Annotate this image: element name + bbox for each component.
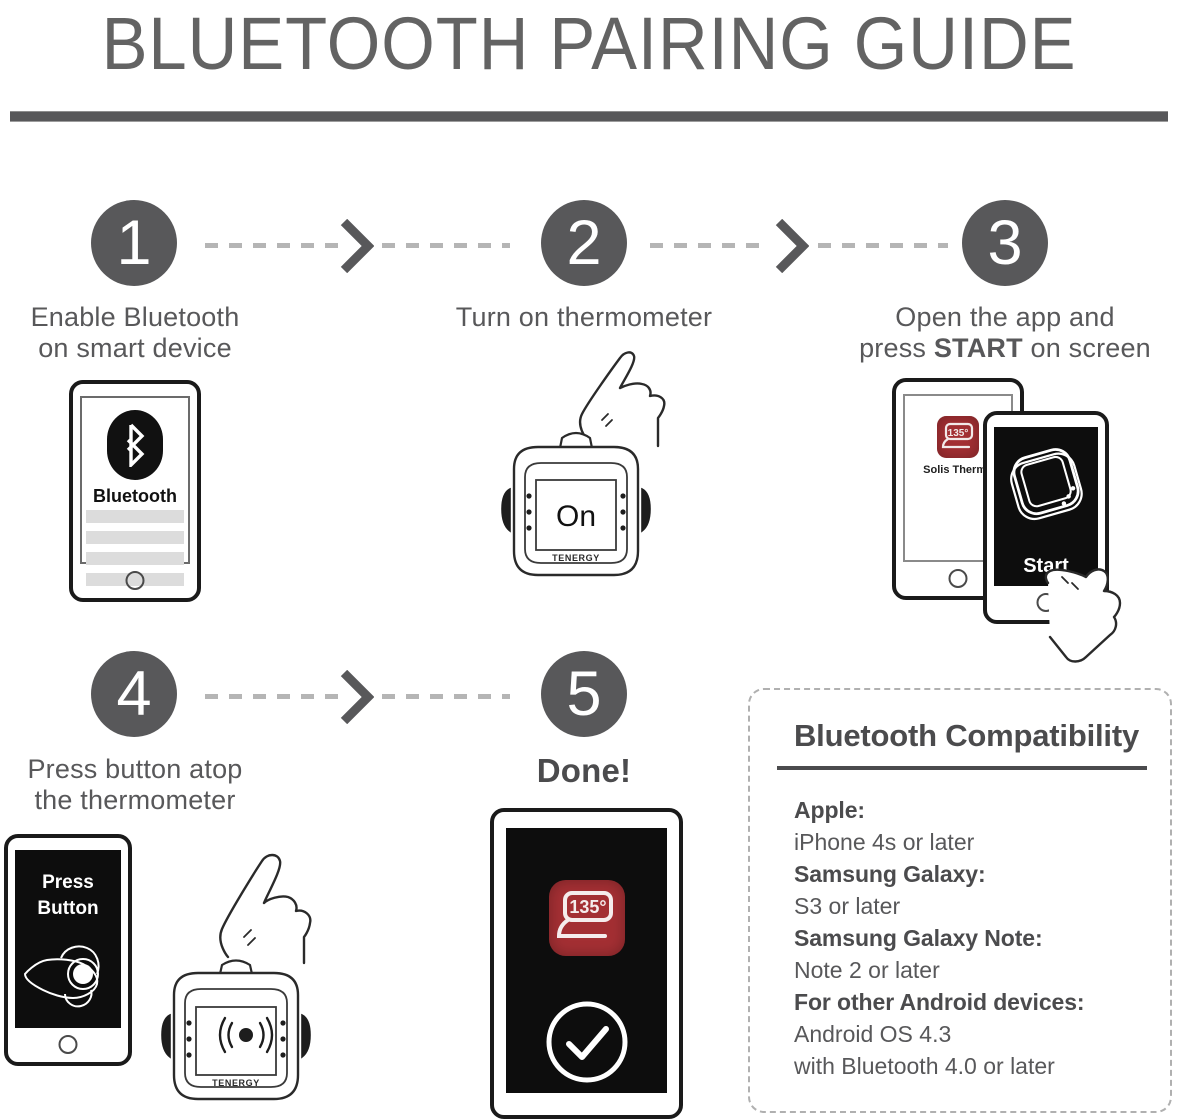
compat-term-other-android: For other Android devices: bbox=[794, 986, 1154, 1018]
compat-term-apple: Apple: bbox=[794, 794, 1154, 826]
bluetooth-icon bbox=[107, 410, 163, 480]
compat-term-galaxy: Samsung Galaxy: bbox=[794, 858, 1154, 890]
app-icon-glyph: 135° bbox=[937, 416, 979, 458]
step-caption-2-line1: Turn on thermometer bbox=[414, 302, 754, 333]
step4-smartphone: Press Button bbox=[4, 834, 132, 1066]
step4-thermometer: TENERGY bbox=[140, 955, 332, 1119]
title-divider bbox=[10, 111, 1168, 122]
step1-phone-screen: Bluetooth ON bbox=[80, 396, 190, 564]
step-caption-3-post: on screen bbox=[1023, 333, 1151, 363]
home-button-icon[interactable] bbox=[126, 571, 145, 590]
step-number-2: 2 bbox=[541, 200, 627, 286]
home-button-icon[interactable] bbox=[59, 1035, 78, 1054]
connector-chevron-2-3 bbox=[775, 219, 809, 273]
thermometer-brand: TENERGY bbox=[212, 1078, 260, 1088]
step-number-5: 5 bbox=[541, 651, 627, 737]
step-number-1: 1 bbox=[91, 200, 177, 286]
press-label: Press bbox=[15, 872, 121, 894]
compat-value-galaxy-note: Note 2 or later bbox=[794, 954, 1154, 986]
step-caption-1-line1: Enable Bluetooth bbox=[0, 302, 270, 333]
hand-pressing-illustration bbox=[21, 932, 123, 1010]
placeholder-row bbox=[86, 531, 184, 544]
step5-phone-screen: 135° bbox=[506, 828, 667, 1093]
step-caption-3-line1: Open the app and bbox=[855, 302, 1155, 333]
step-caption-4: Press button atop the thermometer bbox=[0, 754, 270, 816]
step4-phone-screen: Press Button bbox=[15, 850, 121, 1028]
thermometer-outline-illustration bbox=[998, 433, 1102, 545]
connector-dash-4-5b bbox=[382, 694, 510, 699]
step-caption-3-bold: START bbox=[934, 333, 1023, 363]
connector-dash-1-2b bbox=[382, 243, 510, 248]
thermometer-display-value: On bbox=[556, 500, 596, 533]
step2-thermometer: On TENERGY bbox=[480, 425, 672, 600]
app-icon-reading: 135° bbox=[948, 428, 969, 439]
bluetooth-compatibility-panel: Bluetooth Compatibility Apple: iPhone 4s… bbox=[748, 688, 1172, 1113]
step-caption-1-line2: on smart device bbox=[0, 333, 270, 364]
connector-chevron-4-5 bbox=[340, 670, 374, 724]
app-icon-solis-thermo[interactable]: 135° bbox=[937, 416, 979, 458]
compat-divider bbox=[777, 766, 1147, 770]
button-label: Button bbox=[15, 898, 121, 920]
step-caption-4-line2: the thermometer bbox=[0, 785, 270, 816]
step-caption-3: Open the app and press START on screen bbox=[855, 302, 1155, 364]
placeholder-row bbox=[86, 510, 184, 523]
compat-value-other-android-line2: with Bluetooth 4.0 or later bbox=[794, 1050, 1154, 1082]
step1-smartphone: Bluetooth ON bbox=[69, 380, 201, 602]
step-caption-3-pre: press bbox=[859, 333, 934, 363]
hand-pressing-icon bbox=[204, 845, 324, 965]
compat-value-apple: iPhone 4s or later bbox=[794, 826, 1154, 858]
check-circle-icon bbox=[543, 998, 631, 1086]
compat-value-galaxy: S3 or later bbox=[794, 890, 1154, 922]
app-icon-reading: 135° bbox=[569, 897, 606, 917]
connector-dash-1-2 bbox=[205, 243, 342, 248]
compat-title: Bluetooth Compatibility bbox=[794, 718, 1139, 754]
connector-dash-4-5 bbox=[205, 694, 342, 699]
bluetooth-glyph bbox=[120, 423, 150, 467]
step-caption-1: Enable Bluetooth on smart device bbox=[0, 302, 270, 364]
step-caption-4-line1: Press button atop bbox=[0, 754, 270, 785]
hand-tapping-icon bbox=[1040, 553, 1160, 668]
app-icon-glyph: 135° bbox=[549, 880, 625, 956]
step-caption-2: Turn on thermometer bbox=[414, 302, 754, 333]
compat-list: Apple: iPhone 4s or later Samsung Galaxy… bbox=[794, 794, 1154, 1082]
thermometer-brand: TENERGY bbox=[552, 553, 600, 563]
step-number-3: 3 bbox=[962, 200, 1048, 286]
connector-dash-2-3b bbox=[818, 243, 948, 248]
step-caption-3-line2: press START on screen bbox=[855, 333, 1155, 364]
step-number-4: 4 bbox=[91, 651, 177, 737]
compat-value-other-android-line1: Android OS 4.3 bbox=[794, 1018, 1154, 1050]
connector-chevron-1-2 bbox=[340, 219, 374, 273]
page-title: BLUETOOTH PAIRING GUIDE bbox=[41, 4, 1137, 84]
home-button-icon[interactable] bbox=[949, 569, 968, 588]
app-icon-solis-thermo[interactable]: 135° bbox=[549, 880, 625, 956]
step-caption-5: Done! bbox=[454, 755, 714, 786]
connector-dash-2-3 bbox=[650, 243, 770, 248]
compat-term-galaxy-note: Samsung Galaxy Note: bbox=[794, 922, 1154, 954]
step5-smartphone: 135° bbox=[490, 808, 683, 1119]
placeholder-row bbox=[86, 552, 184, 565]
